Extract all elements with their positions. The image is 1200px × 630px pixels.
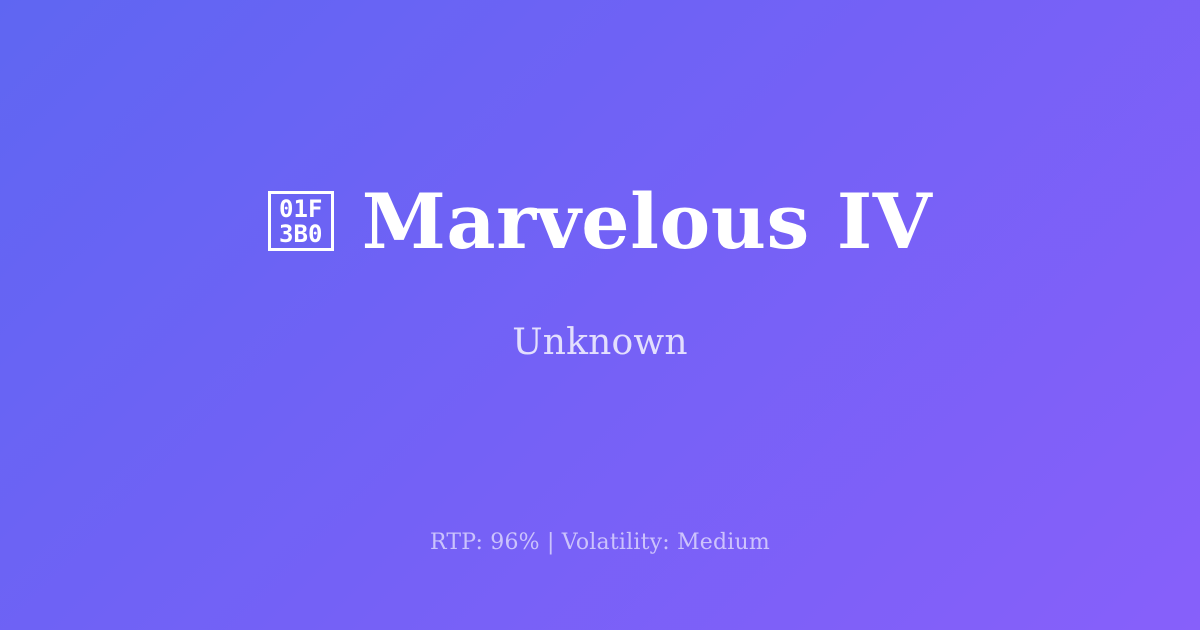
- game-title: Marvelous IV: [362, 182, 933, 262]
- tofu-codepoint-line-1: 01F: [279, 197, 322, 222]
- slot-machine-icon: 01F 3B0: [268, 191, 334, 251]
- hero-block: 01F 3B0 Marvelous IV Unknown: [268, 182, 933, 365]
- title-row: 01F 3B0 Marvelous IV: [268, 182, 933, 262]
- game-provider: Unknown: [512, 321, 688, 364]
- tofu-codepoint-line-2: 3B0: [279, 222, 322, 247]
- game-promo-card: 01F 3B0 Marvelous IV Unknown RTP: 96% | …: [0, 0, 1200, 630]
- game-meta-line: RTP: 96% | Volatility: Medium: [0, 529, 1200, 558]
